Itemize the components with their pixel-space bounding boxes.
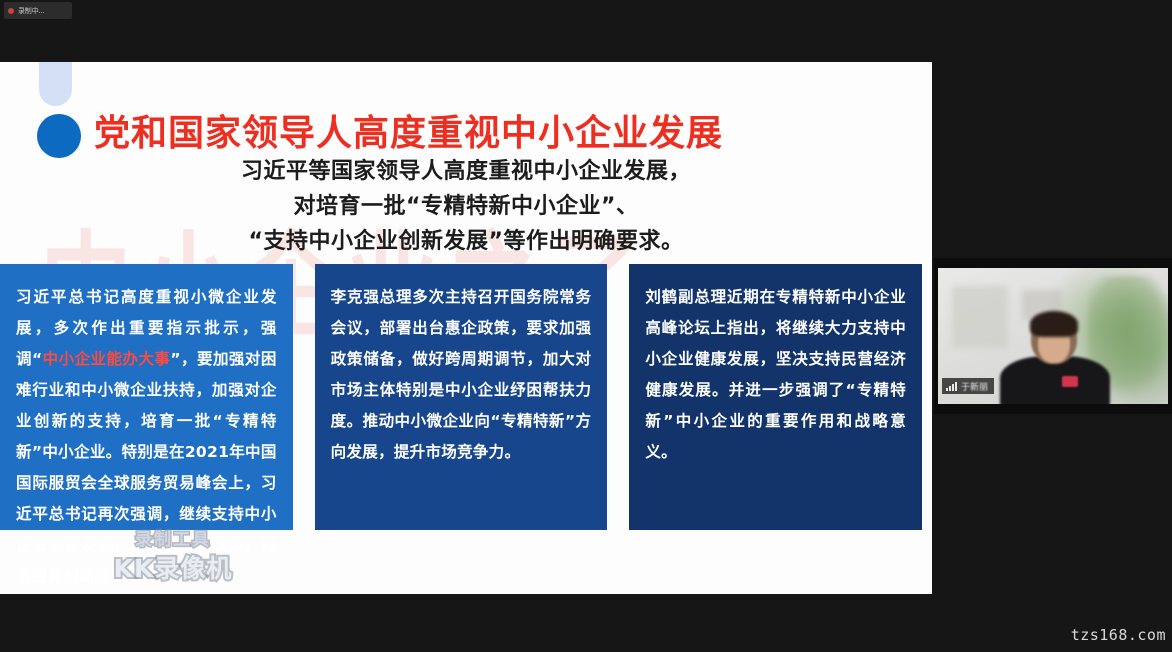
site-watermark: tzs168.com xyxy=(1071,626,1166,644)
card-1-highlight: 中小企业能办大事 xyxy=(42,350,170,368)
participant-name-bar: 于新丽 xyxy=(942,378,994,394)
subtitle-line-3: “支持中小企业创新发展”等作出明确要求。 xyxy=(0,224,932,259)
content-card-xi: 习近平总书记高度重视小微企业发展，多次作出重要指示批示，强调“中小企业能办大事”… xyxy=(0,264,293,530)
presentation-slide: 中小企业之了 党和国家领导人高度重视中小企业发展 习近平等国家领导人高度重视中小… xyxy=(0,62,932,594)
decorative-circle-shape xyxy=(37,114,81,158)
participant-name-label: 于新丽 xyxy=(961,380,988,393)
shirt-logo xyxy=(1062,376,1078,387)
webcam-video-panel[interactable]: 于新丽 xyxy=(934,258,1172,414)
recording-status-tab[interactable]: 录制中... xyxy=(4,2,72,19)
signal-bars-icon xyxy=(946,382,957,391)
content-card-liu: 刘鹤副总理近期在专精特新中小企业高峰论坛上指出，将继续大力支持中小企业健康发展，… xyxy=(629,264,922,530)
background-wall-object-1 xyxy=(952,286,1008,348)
speaker-hair xyxy=(1030,311,1078,337)
card-3-text: 刘鹤副总理近期在专精特新中小企业高峰论坛上指出，将继续大力支持中小企业健康发展，… xyxy=(645,288,906,461)
recording-dot-icon xyxy=(8,8,14,14)
subtitle-line-2: 对培育一批“专精特新中小企业”、 xyxy=(0,189,932,224)
screen-recording-window: 录制中... 中小企业之了 党和国家领导人高度重视中小企业发展 习近平等国家领导… xyxy=(0,0,1172,652)
content-card-li: 李克强总理多次主持召开国务院常务会议，部署出台惠企政策，要求加强政策储备，做好跨… xyxy=(315,264,608,530)
decorative-pill-shape xyxy=(39,62,72,106)
card-2-text: 李克强总理多次主持召开国务院常务会议，部署出台惠企政策，要求加强政策储备，做好跨… xyxy=(331,288,592,461)
slide-title: 党和国家领导人高度重视中小企业发展 xyxy=(94,104,723,156)
webcam-video-frame: 于新丽 xyxy=(938,268,1168,404)
recording-status-label: 录制中... xyxy=(18,6,44,16)
content-card-row: 习近平总书记高度重视小微企业发展，多次作出重要指示批示，强调“中小企业能办大事”… xyxy=(0,264,932,530)
slide-subtitle-block: 习近平等国家领导人高度重视中小企业发展， 对培育一批“专精特新中小企业”、 “支… xyxy=(0,154,932,259)
card-1-text-after: ”，要加强对困难行业和中小微企业扶持，加强对企业创新的支持，培育一批“专精特新”… xyxy=(16,350,277,585)
subtitle-line-1: 习近平等国家领导人高度重视中小企业发展， xyxy=(0,154,932,189)
